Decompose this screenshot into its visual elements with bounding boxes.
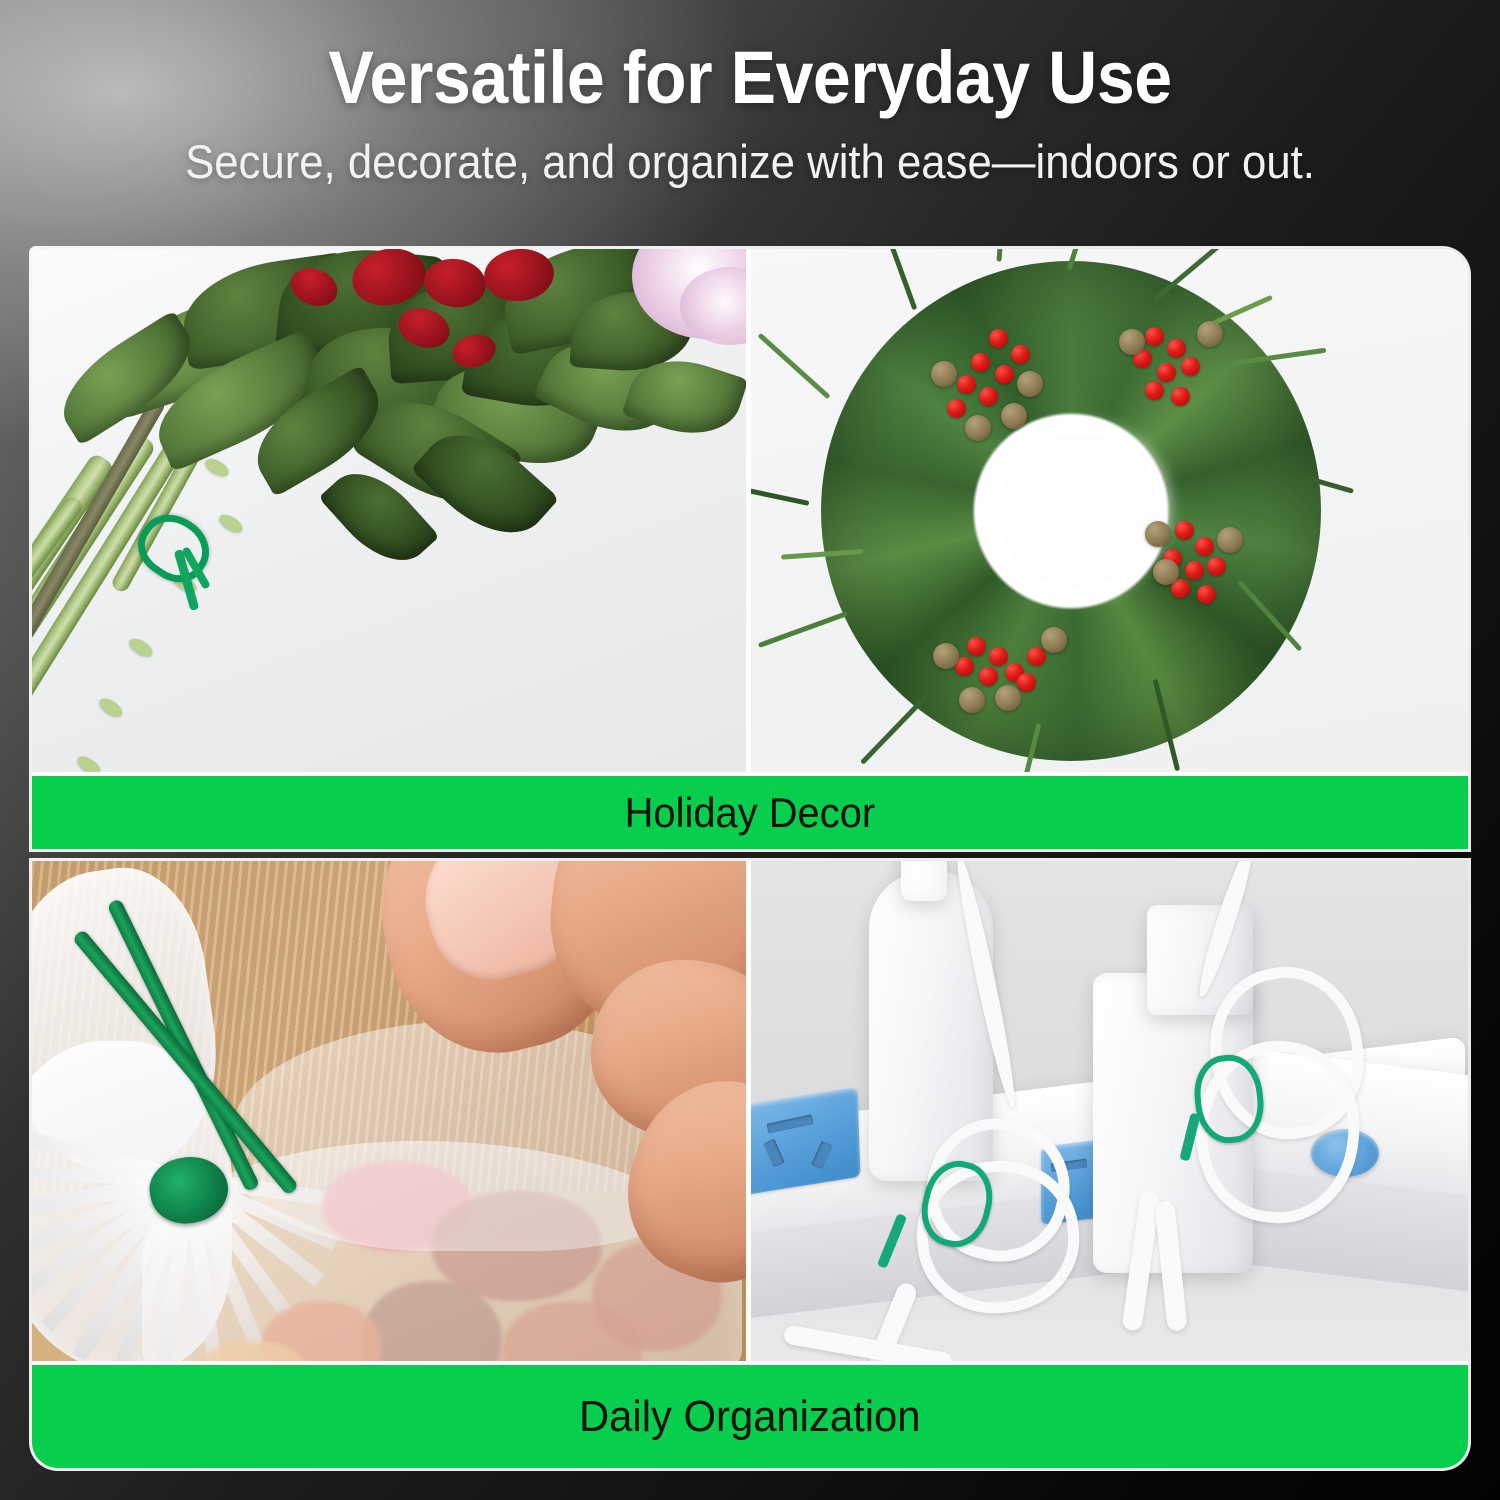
caption-bar-daily-organization: Daily Organization xyxy=(32,1361,1468,1468)
infographic-canvas: Versatile for Everyday Use Secure, decor… xyxy=(0,0,1500,1500)
produce-bag-photo xyxy=(32,861,746,1361)
caption-label-holiday-decor: Holiday Decor xyxy=(625,789,876,837)
christmas-wreath-photo xyxy=(746,249,1469,772)
page-subtitle: Secure, decorate, and organize with ease… xyxy=(53,134,1448,190)
photo-row-bottom xyxy=(32,861,1468,1361)
page-title: Versatile for Everyday Use xyxy=(60,38,1440,118)
photo-row-top xyxy=(32,249,1468,772)
caption-bar-holiday-decor: Holiday Decor xyxy=(32,772,1468,849)
power-strip-photo xyxy=(746,861,1469,1361)
flower-bouquet-photo xyxy=(32,249,746,772)
panel-daily-organization: Daily Organization xyxy=(32,861,1468,1468)
panel-holiday-decor: Holiday Decor xyxy=(32,249,1468,849)
header-block: Versatile for Everyday Use Secure, decor… xyxy=(0,0,1500,248)
caption-label-daily-organization: Daily Organization xyxy=(579,1392,921,1442)
feature-grid: Holiday Decor xyxy=(32,249,1468,1468)
